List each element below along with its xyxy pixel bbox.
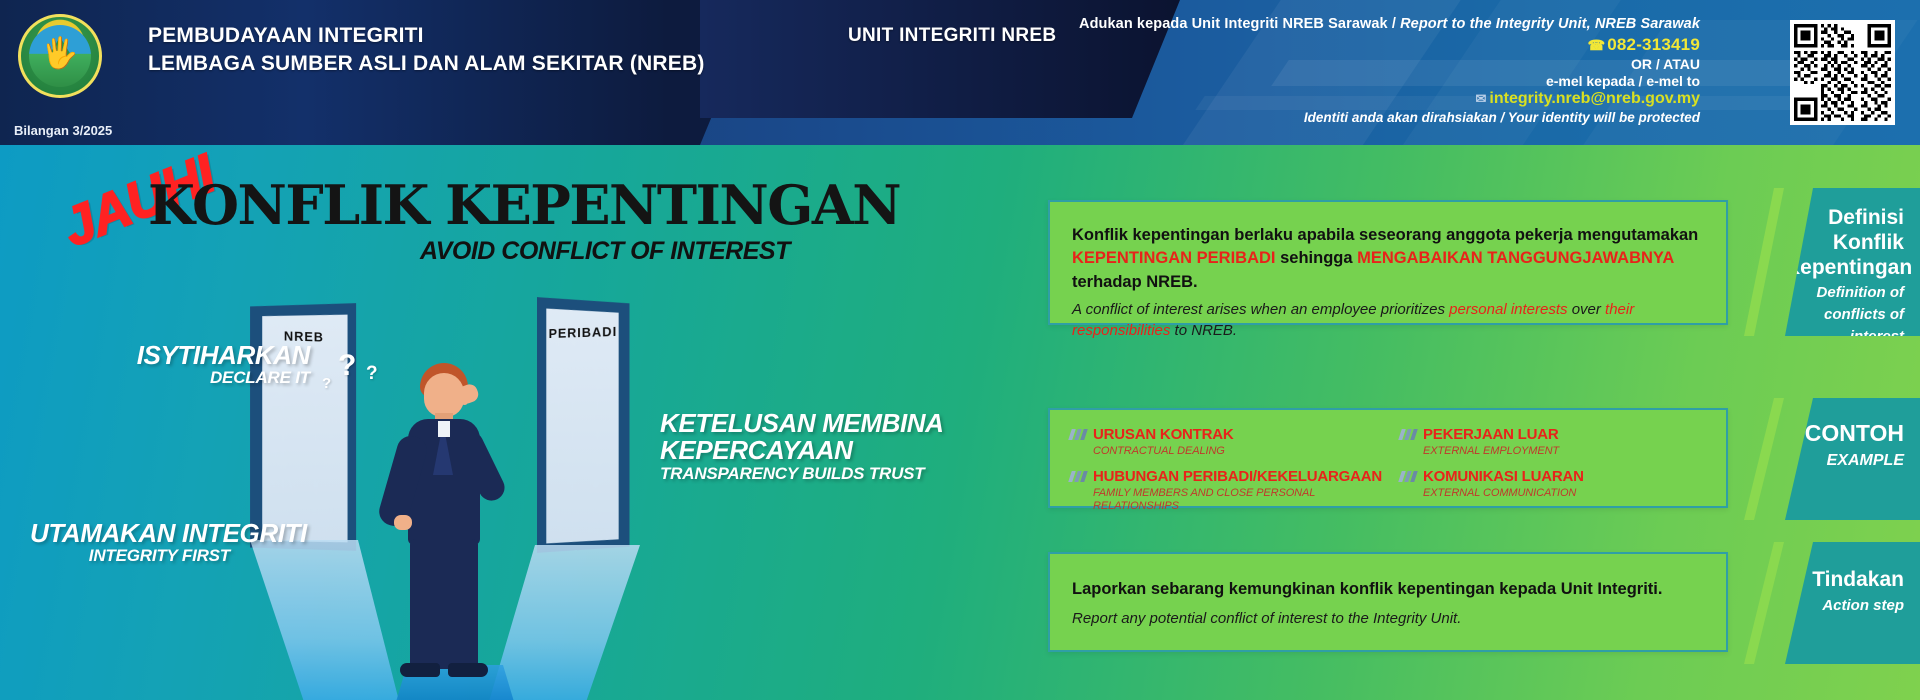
example-item-en: EXTERNAL COMMUNICATION [1423,487,1584,500]
card-definition: Konflik kepentingan berlaku apabila sese… [1048,200,1728,325]
definition-en-part3: to NREB. [1170,322,1237,339]
example-item-ms: URUSAN KONTRAK [1093,426,1234,443]
example-item-ms: HUBUNGAN PERIBADI/KEKELUARGAAN [1093,468,1382,485]
example-items-grid: URUSAN KONTRAK CONTRACTUAL DEALING PEKER… [1070,426,1712,514]
qr-code[interactable] [1790,20,1895,125]
confused-man-illustration: ? ? ? [380,357,510,700]
qr-code-icon [1794,24,1891,121]
example-item-en: CONTRACTUAL DEALING [1093,445,1234,458]
report-label-en: Report to the Integrity Unit, NREB Saraw… [1400,16,1700,32]
definition-ms-part2: sehingga [1276,249,1358,267]
definition-en-part2: over [1568,301,1606,318]
caption-declare-en: DECLARE IT [110,369,310,387]
phone-number: 082-313419 [1607,35,1700,54]
door-nreb: NREB [250,299,356,555]
caption-declare: ISYTIHARKAN DECLARE IT [110,342,310,387]
header-org-line1: PEMBUDAYAAN INTEGRITI [148,22,705,50]
email-address: integrity.nreb@nreb.gov.my [1489,90,1700,107]
or-label: OR / ATAU [900,56,1700,72]
door-label-peribadi: PERIBADI [537,323,630,341]
arrow-marks-icon [1400,429,1416,440]
tab-definition-en-line2: conflicts of [1785,306,1904,324]
tab-definition-ms-line3: Kepentingan [1785,256,1904,281]
door-peribadi: PERIBADI [537,293,630,557]
definition-text-en: A conflict of interest arises when an em… [1072,300,1708,341]
definition-text-ms: Konflik kepentingan berlaku apabila sese… [1072,224,1708,294]
example-item: PEKERJAAN LUAR EXTERNAL EMPLOYMENT [1400,426,1712,458]
definition-en-red1: personal interests [1449,301,1567,318]
infographic-poster: 🖐 PEMBUDAYAAN INTEGRITI LEMBAGA SUMBER A… [0,0,1920,700]
caption-integrity-first: UTAMAKAN INTEGRITI INTEGRITY FIRST [30,520,230,565]
caption-integrity-en: INTEGRITY FIRST [30,547,230,565]
question-mark-mid: ? [366,363,378,385]
report-separator: / [1392,16,1396,32]
definition-ms-red1: KEPENTINGAN PERIBADI [1072,249,1276,267]
caption-integrity-ms: UTAMAKAN INTEGRITI [30,520,230,547]
caption-transparency: KETELUSAN MEMBINA KEPERCAYAAN TRANSPAREN… [660,410,944,482]
arrow-marks-icon [1070,429,1086,440]
envelope-icon: ✉ [1476,91,1487,106]
tab-example-en: EXAMPLE [1785,451,1904,470]
question-mark-small: ? [322,375,331,392]
phone-icon: ☎ [1588,37,1606,53]
light-beam-left [250,540,400,700]
example-item-ms: PEKERJAAN LUAR [1423,426,1559,443]
page-subtitle: AVOID CONFLICT OF INTEREST [420,237,790,266]
example-item-ms: KOMUNIKASI LUARAN [1423,468,1584,485]
example-item: HUBUNGAN PERIBADI/KEKELUARGAAN FAMILY ME… [1070,468,1382,513]
arrow-marks-icon [1400,471,1416,482]
caption-transparency-ms-line2: KEPERCAYAAN [660,437,944,464]
question-mark-big: ? [338,349,356,383]
example-item: KOMUNIKASI LUARAN EXTERNAL COMMUNICATION [1400,468,1712,513]
page-header: 🖐 PEMBUDAYAAN INTEGRITI LEMBAGA SUMBER A… [0,0,1920,145]
contact-phone[interactable]: ☎082-313419 [900,35,1700,55]
nreb-logo: 🖐 [18,14,102,98]
caption-declare-ms: ISYTIHARKAN [110,342,310,369]
definition-ms-part3: terhadap NREB. [1072,273,1198,291]
example-item-en: EXTERNAL EMPLOYMENT [1423,445,1559,458]
contact-block: Adukan kepada Unit Integriti NREB Sarawa… [900,16,1700,125]
card-example: URUSAN KONTRAK CONTRACTUAL DEALING PEKER… [1048,408,1728,508]
action-text-en: Report any potential conflict of interes… [1072,610,1708,627]
header-org-line2: LEMBAGA SUMBER ASLI DAN ALAM SEKITAR (NR… [148,50,705,78]
example-item-en: FAMILY MEMBERS AND CLOSE PERSONAL RELATI… [1093,487,1382,513]
privacy-note: Identiti anda akan dirahsiakan / Your id… [900,110,1700,125]
page-title: KONFLIK KEPENTINGAN [148,173,900,237]
tab-definition-en-line1: Definition of [1785,284,1904,302]
report-label-ms: Adukan kepada Unit Integriti NREB Sarawa… [1079,16,1388,32]
email-label: e-mel kepada / e-mel to [900,73,1700,89]
tab-action-en: Action step [1785,597,1904,615]
header-org-title: PEMBUDAYAAN INTEGRITI LEMBAGA SUMBER ASL… [148,22,705,77]
contact-email[interactable]: ✉integrity.nreb@nreb.gov.my [900,90,1700,108]
example-item: URUSAN KONTRAK CONTRACTUAL DEALING [1070,426,1382,458]
definition-ms-red2: MENGABAIKAN TANGGUNGJAWABNYA [1357,249,1674,267]
arrow-marks-icon [1070,471,1086,482]
action-text-ms: Laporkan sebarang kemungkinan konflik ke… [1072,580,1708,599]
caption-transparency-en: TRANSPARENCY BUILDS TRUST [660,465,944,483]
report-line: Adukan kepada Unit Integriti NREB Sarawa… [900,16,1700,32]
illustration-area: JAUHI KONFLIK KEPENTINGAN AVOID CONFLICT… [0,145,1040,700]
card-action: Laporkan sebarang kemungkinan konflik ke… [1048,552,1728,652]
hand-icon: 🖐 [41,39,78,69]
caption-transparency-ms-line1: KETELUSAN MEMBINA [660,410,944,437]
issue-number: Bilangan 3/2025 [14,123,112,138]
definition-ms-part1: Konflik kepentingan berlaku apabila sese… [1072,226,1698,244]
definition-en-part1: A conflict of interest arises when an em… [1072,301,1449,318]
